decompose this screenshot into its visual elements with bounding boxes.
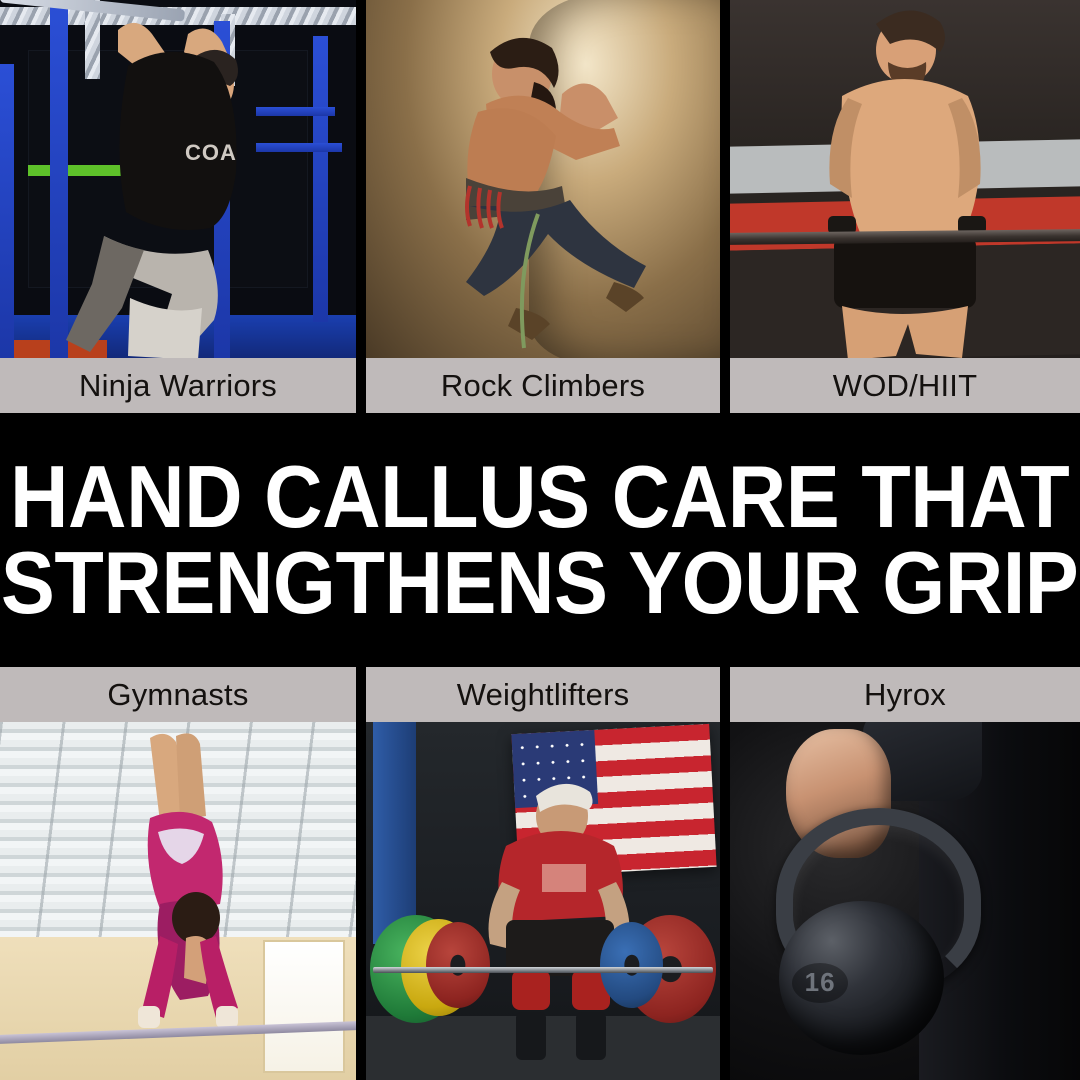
hyrox-photo: 16 <box>730 722 1080 1080</box>
svg-text:COA: COA <box>185 140 237 165</box>
card-gymnasts[interactable]: Gymnasts <box>0 667 356 1080</box>
label-wod-hiit: WOD/HIIT <box>730 358 1080 413</box>
label-hyrox: Hyrox <box>730 667 1080 722</box>
headline-line-1: HAND CALLUS CARE THAT <box>10 454 1069 540</box>
card-weightlifters[interactable]: Weightlifters <box>366 667 720 1080</box>
ninja-warrior-photo: COA <box>0 0 356 358</box>
kettlebell-weight-mark: 16 <box>792 963 848 1003</box>
headline-band: HAND CALLUS CARE THAT STRENGTHENS YOUR G… <box>0 413 1080 667</box>
card-hyrox[interactable]: Hyrox 16 <box>730 667 1080 1080</box>
label-gymnasts: Gymnasts <box>0 667 356 722</box>
wod-hiit-photo <box>730 0 1080 358</box>
card-wod-hiit[interactable]: WOD/HIIT <box>730 0 1080 413</box>
headline-line-2: STRENGTHENS YOUR GRIP <box>1 540 1078 626</box>
gymnast-photo <box>0 722 356 1080</box>
bottom-image-row: Gymnasts <box>0 667 1080 1080</box>
label-ninja-warriors: Ninja Warriors <box>0 358 356 413</box>
label-rock-climbers: Rock Climbers <box>366 358 720 413</box>
card-ninja-warriors[interactable]: COA Ninja Warriors <box>0 0 356 413</box>
card-rock-climbers[interactable]: Rock Climbers <box>366 0 720 413</box>
rock-climber-photo <box>366 0 720 358</box>
top-image-row: COA Ninja Warriors <box>0 0 1080 413</box>
poster-canvas: COA Ninja Warriors <box>0 0 1080 1080</box>
weightlifter-photo <box>366 722 720 1080</box>
label-weightlifters: Weightlifters <box>366 667 720 722</box>
